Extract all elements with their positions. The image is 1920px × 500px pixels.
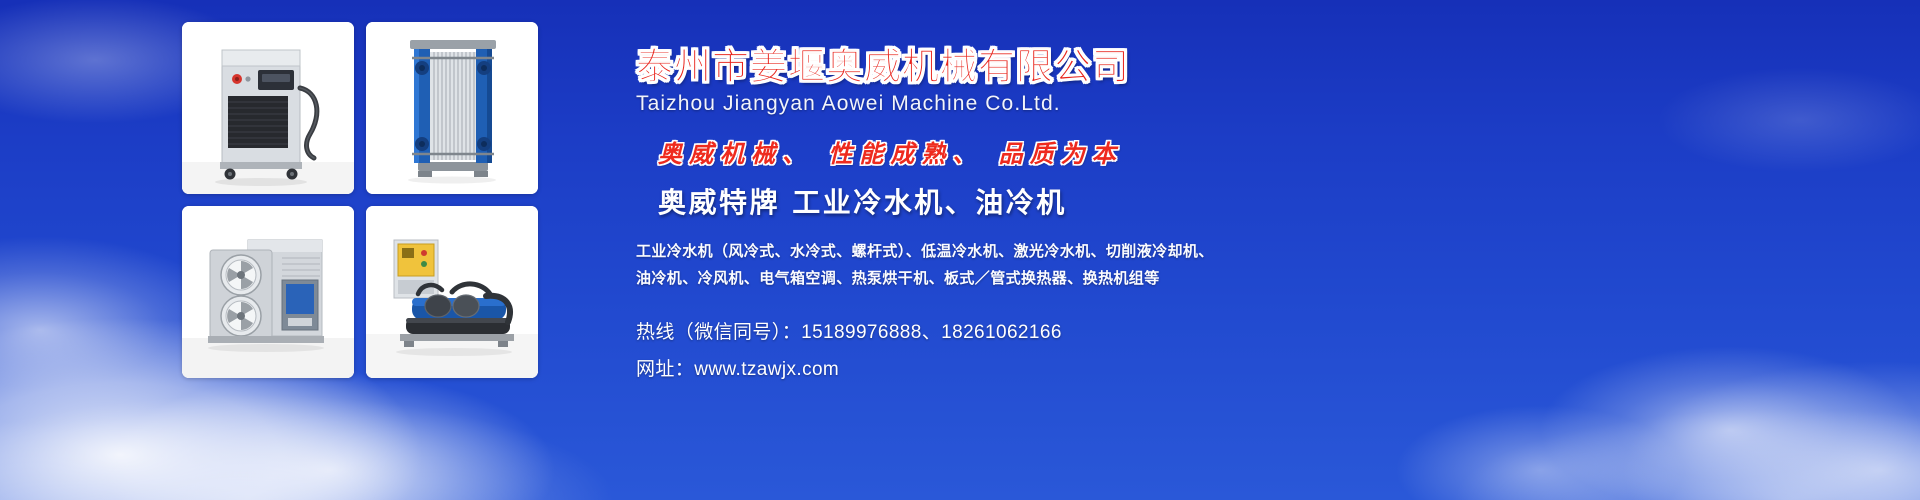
photo-chiller-cabinet[interactable]: [182, 22, 354, 194]
product-description: 工业冷水机（风冷式、水冷式、螺杆式）、低温冷水机、激光冷水机、切削液冷却机、 油…: [636, 238, 1636, 291]
hotline-label: 热线（微信同号）：: [636, 321, 801, 343]
description-line-1: 工业冷水机（风冷式、水冷式、螺杆式）、低温冷水机、激光冷水机、切削液冷却机、: [636, 238, 1636, 265]
promo-banner: 泰州市姜堰奥威机械有限公司 Taizhou Jiangyan Aowei Mac…: [0, 0, 1920, 500]
photo-air-cooled-unit[interactable]: [182, 206, 354, 378]
website-row: 网址：www.tzawjx.com: [636, 351, 1636, 388]
photo-screw-chiller[interactable]: [366, 206, 538, 378]
product-line-heading: 奥威特牌 工业冷水机、油冷机: [658, 181, 1636, 221]
description-line-2: 油冷机、冷风机、电气箱空调、热泵烘干机、板式／管式换热器、换热机组等: [636, 265, 1636, 292]
company-name-en: Taizhou Jiangyan Aowei Machine Co.Ltd.: [636, 92, 1636, 116]
hotline-value[interactable]: 15189976888、18261062166: [801, 322, 1062, 343]
website-value[interactable]: www.tzawjx.com: [694, 359, 839, 380]
product-photo-grid: [182, 22, 538, 378]
website-label: 网址：: [636, 358, 694, 380]
photo-plate-exchanger[interactable]: [366, 22, 538, 194]
company-slogan: 奥威机械、 性能成熟、 品质为本: [658, 134, 1636, 169]
company-name-cn: 泰州市姜堰奥威机械有限公司: [636, 46, 1636, 87]
contact-info: 热线（微信同号）：15189976888、18261062166 网址：www.…: [636, 314, 1636, 389]
hotline-row: 热线（微信同号）：15189976888、18261062166: [636, 314, 1636, 351]
company-text-block: 泰州市姜堰奥威机械有限公司 Taizhou Jiangyan Aowei Mac…: [636, 46, 1636, 389]
